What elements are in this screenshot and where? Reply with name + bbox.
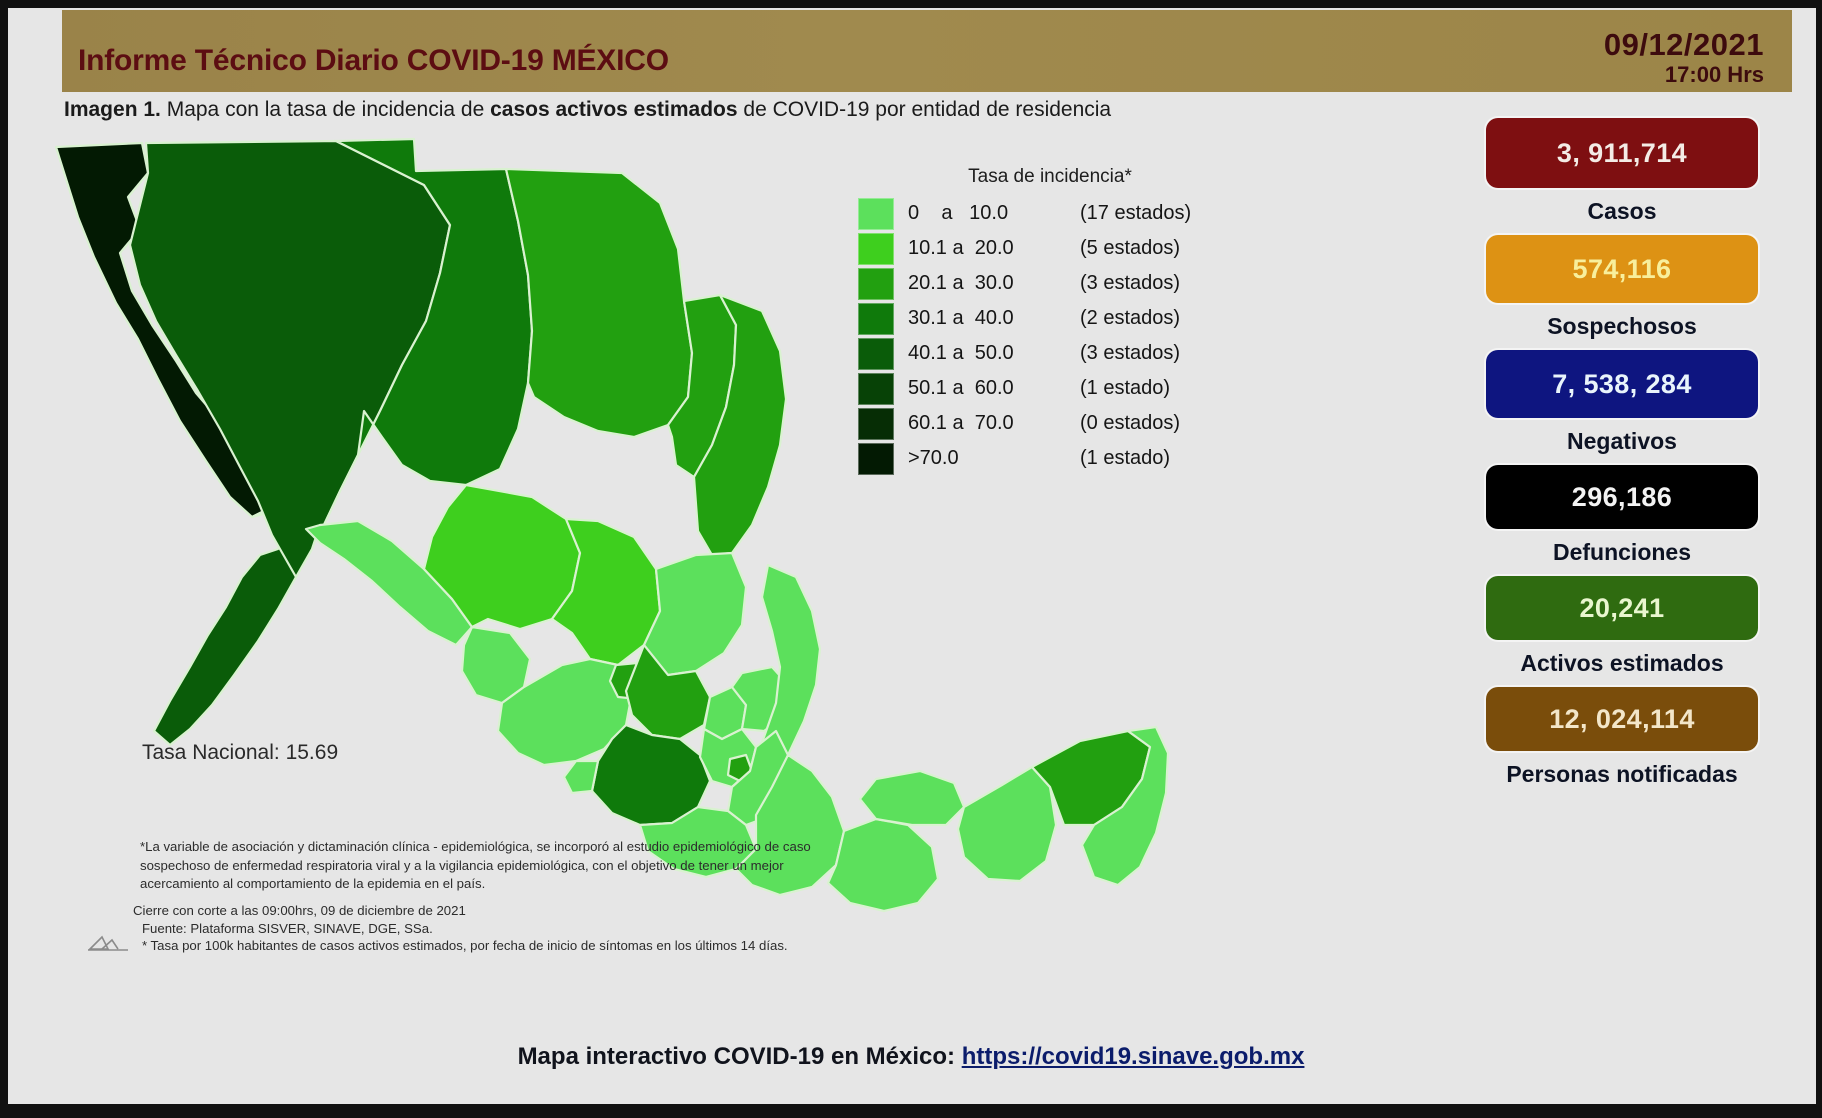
figure-caption-text-1: Mapa con la tasa de incidencia de xyxy=(161,98,490,121)
figure-caption-text-2: de COVID-19 por entidad de residencia xyxy=(738,98,1112,121)
stat-value-negativos: 7, 538, 284 xyxy=(1552,369,1692,400)
legend-count: (2 estados) xyxy=(1080,307,1180,330)
interactive-map-link[interactable]: https://covid19.sinave.gob.mx xyxy=(962,1043,1305,1070)
stat-label-activos-estimados: Activos estimados xyxy=(1452,649,1792,678)
legend-swatch-icon xyxy=(858,303,894,335)
stat-label-negativos: Negativos xyxy=(1452,427,1792,456)
legend-range: 40.1 a 50.0 xyxy=(908,342,1080,365)
report-date: 09/12/2021 xyxy=(1604,28,1764,62)
legend-count: (3 estados) xyxy=(1080,342,1180,365)
legend-title: Tasa de incidencia* xyxy=(882,166,1218,188)
stat-value-sospechosos: 574,116 xyxy=(1573,254,1672,285)
legend-swatch-icon xyxy=(858,233,894,265)
legend-count: (3 estados) xyxy=(1080,272,1180,295)
legend-count: (1 estado) xyxy=(1080,447,1170,470)
interactive-map-link-prefix: Mapa interactivo COVID-19 en México: xyxy=(518,1043,962,1070)
figure-caption-prefix: Imagen 1. xyxy=(64,98,161,121)
report-page: 09/12/2021 17:00 Hrs Informe Técnico Dia… xyxy=(0,0,1822,1118)
figure-caption-bold-1: casos activos estimados xyxy=(490,98,737,121)
stat-label-personas-notificadas: Personas notificadas xyxy=(1452,760,1792,789)
legend-range: >70.0 xyxy=(908,447,1080,470)
stat-value-activos-estimados: 20,241 xyxy=(1580,593,1665,624)
legend-swatch-icon xyxy=(858,268,894,300)
legend-swatch-icon xyxy=(858,198,894,230)
stat-card-defunciones[interactable]: 296,186 xyxy=(1486,465,1758,529)
legend-range: 60.1 a 70.0 xyxy=(908,412,1080,435)
legend-item[interactable]: >70.0 (1 estado) xyxy=(858,441,1218,476)
legend-count: (5 estados) xyxy=(1080,237,1180,260)
legend-item[interactable]: 0 a 10.0 (17 estados) xyxy=(858,196,1218,231)
national-rate-label: Tasa Nacional: 15.69 xyxy=(142,741,338,765)
legend-range: 0 a 10.0 xyxy=(908,202,1080,225)
state-colima xyxy=(564,761,598,793)
footnote-cierre: Cierre con corte a las 09:00hrs, 09 de d… xyxy=(133,902,853,920)
legend-item[interactable]: 50.1 a 60.0 (1 estado) xyxy=(858,371,1218,406)
legend-range: 20.1 a 30.0 xyxy=(908,272,1080,295)
slide-edge-bottom xyxy=(0,1104,1822,1118)
stat-label-casos: Casos xyxy=(1452,197,1792,226)
report-time: 17:00 Hrs xyxy=(1604,62,1764,88)
legend-item[interactable]: 20.1 a 30.0 (3 estados) xyxy=(858,266,1218,301)
legend-item[interactable]: 60.1 a 70.0 (0 estados) xyxy=(858,406,1218,441)
state-chiapas xyxy=(828,819,938,911)
figure-caption: Imagen 1. Mapa con la tasa de incidencia… xyxy=(64,98,1111,122)
header-date-block: 09/12/2021 17:00 Hrs xyxy=(1604,28,1764,88)
legend-range: 30.1 a 40.0 xyxy=(908,307,1080,330)
stat-card-casos[interactable]: 3, 911,714 xyxy=(1486,118,1758,188)
legend-item[interactable]: 40.1 a 50.0 (3 estados) xyxy=(858,336,1218,371)
footnote-fuente: Fuente: Plataforma SISVER, SINAVE, DGE, … xyxy=(133,920,853,938)
legend-swatch-icon xyxy=(858,338,894,370)
map-legend: Tasa de incidencia* 0 a 10.0 (17 estados… xyxy=(858,166,1218,476)
legend-range: 50.1 a 60.0 xyxy=(908,377,1080,400)
summary-stats-panel: 3, 911,714 Casos 574,116 Sospechosos 7, … xyxy=(1452,118,1792,789)
legend-swatch-icon xyxy=(858,443,894,475)
legend-count: (1 estado) xyxy=(1080,377,1170,400)
footnote-asterisk: *La variable de asociación y dictaminaci… xyxy=(140,838,840,894)
slide-edge-top xyxy=(0,0,1822,8)
stat-label-defunciones: Defunciones xyxy=(1452,538,1792,567)
legend-count: (17 estados) xyxy=(1080,202,1191,225)
state-tabasco xyxy=(860,771,964,825)
stat-value-personas-notificadas: 12, 024,114 xyxy=(1549,704,1695,735)
footnote-tasa: * Tasa por 100k habitantes de casos acti… xyxy=(133,937,853,955)
state-campeche xyxy=(958,767,1056,881)
stat-value-casos: 3, 911,714 xyxy=(1557,138,1687,169)
interactive-map-link-row: Mapa interactivo COVID-19 en México: htt… xyxy=(0,1043,1822,1071)
state-san-luis-potosi xyxy=(644,553,746,675)
legend-item[interactable]: 30.1 a 40.0 (2 estados) xyxy=(858,301,1218,336)
footnote-source-block: Cierre con corte a las 09:00hrs, 09 de d… xyxy=(133,902,853,955)
legend-count: (0 estados) xyxy=(1080,412,1180,435)
page-title: Informe Técnico Diario COVID-19 MÉXICO xyxy=(78,44,669,78)
legend-swatch-icon xyxy=(858,408,894,440)
slide-edge-left xyxy=(0,0,8,1118)
legend-swatch-icon xyxy=(858,373,894,405)
stat-card-negativos[interactable]: 7, 538, 284 xyxy=(1486,350,1758,418)
legend-item[interactable]: 10.1 a 20.0 (5 estados) xyxy=(858,231,1218,266)
slide-edge-right xyxy=(1816,0,1822,1118)
stat-value-defunciones: 296,186 xyxy=(1572,482,1672,513)
stat-label-sospechosos: Sospechosos xyxy=(1452,312,1792,341)
stat-card-activos-estimados[interactable]: 20,241 xyxy=(1486,576,1758,640)
stat-card-sospechosos[interactable]: 574,116 xyxy=(1486,235,1758,303)
legend-range: 10.1 a 20.0 xyxy=(908,237,1080,260)
stat-card-personas-notificadas[interactable]: 12, 024,114 xyxy=(1486,687,1758,751)
ssa-logo-icon xyxy=(88,931,132,953)
state-coahuila xyxy=(506,169,692,437)
state-sonora xyxy=(130,141,450,577)
